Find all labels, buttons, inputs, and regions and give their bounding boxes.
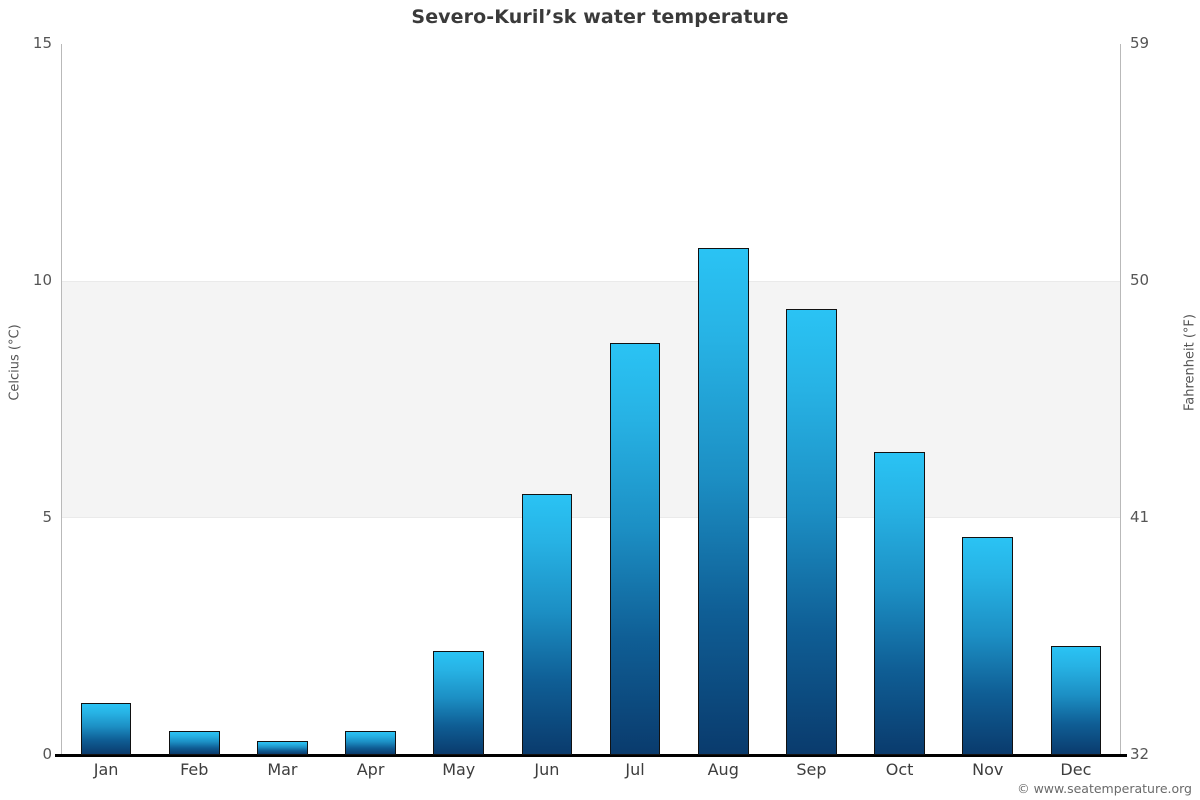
bar-slot xyxy=(698,44,749,755)
x-axis-label-nov: Nov xyxy=(944,760,1032,779)
bar-slot xyxy=(345,44,396,755)
bar-may[interactable] xyxy=(433,651,484,755)
bar-jul[interactable] xyxy=(610,343,661,755)
y-axis-left-title: Celcius (°C) xyxy=(8,303,23,423)
bar-aug[interactable] xyxy=(698,248,749,755)
x-axis-label-aug: Aug xyxy=(679,760,767,779)
y-axis-right-tick-label: 59 xyxy=(1130,34,1190,52)
bar-slot xyxy=(433,44,484,755)
bar-sep[interactable] xyxy=(786,309,837,755)
bar-slot xyxy=(962,44,1013,755)
bar-slot xyxy=(81,44,132,755)
bar-dec[interactable] xyxy=(1051,646,1102,755)
x-axis-label-oct: Oct xyxy=(856,760,944,779)
x-axis-label-mar: Mar xyxy=(238,760,326,779)
y-axis-left-tick-label: 10 xyxy=(0,271,52,289)
copyright-credit: © www.seatemperature.org xyxy=(1017,781,1192,796)
bar-slot xyxy=(522,44,573,755)
y-axis-right-tick-label: 41 xyxy=(1130,508,1190,526)
bar-slot xyxy=(786,44,837,755)
chart-container: Severo-Kuril’sk water temperature 051015… xyxy=(0,0,1200,800)
x-axis-label-jul: Jul xyxy=(591,760,679,779)
bar-slot xyxy=(257,44,308,755)
bar-apr[interactable] xyxy=(345,731,396,755)
x-axis-label-jun: Jun xyxy=(503,760,591,779)
bar-slot xyxy=(169,44,220,755)
bar-slot xyxy=(610,44,661,755)
x-axis-tick-labels: JanFebMarAprMayJunJulAugSepOctNovDec xyxy=(62,760,1120,790)
bar-series xyxy=(62,44,1120,755)
y-axis-left-tick-label: 15 xyxy=(0,34,52,52)
x-axis-label-jan: Jan xyxy=(62,760,150,779)
y-axis-left-tick-label: 5 xyxy=(0,508,52,526)
bar-mar[interactable] xyxy=(257,741,308,755)
bar-slot xyxy=(1051,44,1102,755)
chart-title: Severo-Kuril’sk water temperature xyxy=(0,6,1200,28)
x-axis-label-sep: Sep xyxy=(767,760,855,779)
y-axis-right-title: Fahrenheit (°F) xyxy=(1183,293,1198,433)
x-axis-label-apr: Apr xyxy=(327,760,415,779)
y-axis-right-tick-label: 50 xyxy=(1130,271,1190,289)
y-axis-left-tick-label: 0 xyxy=(0,745,52,763)
x-axis-label-feb: Feb xyxy=(150,760,238,779)
bar-oct[interactable] xyxy=(874,452,925,755)
bar-nov[interactable] xyxy=(962,537,1013,755)
y-axis-right-tick-label: 32 xyxy=(1130,745,1190,763)
bar-slot xyxy=(874,44,925,755)
x-axis-label-dec: Dec xyxy=(1032,760,1120,779)
bar-jun[interactable] xyxy=(522,494,573,755)
bar-feb[interactable] xyxy=(169,731,220,755)
x-axis-label-may: May xyxy=(415,760,503,779)
bar-jan[interactable] xyxy=(81,703,132,755)
